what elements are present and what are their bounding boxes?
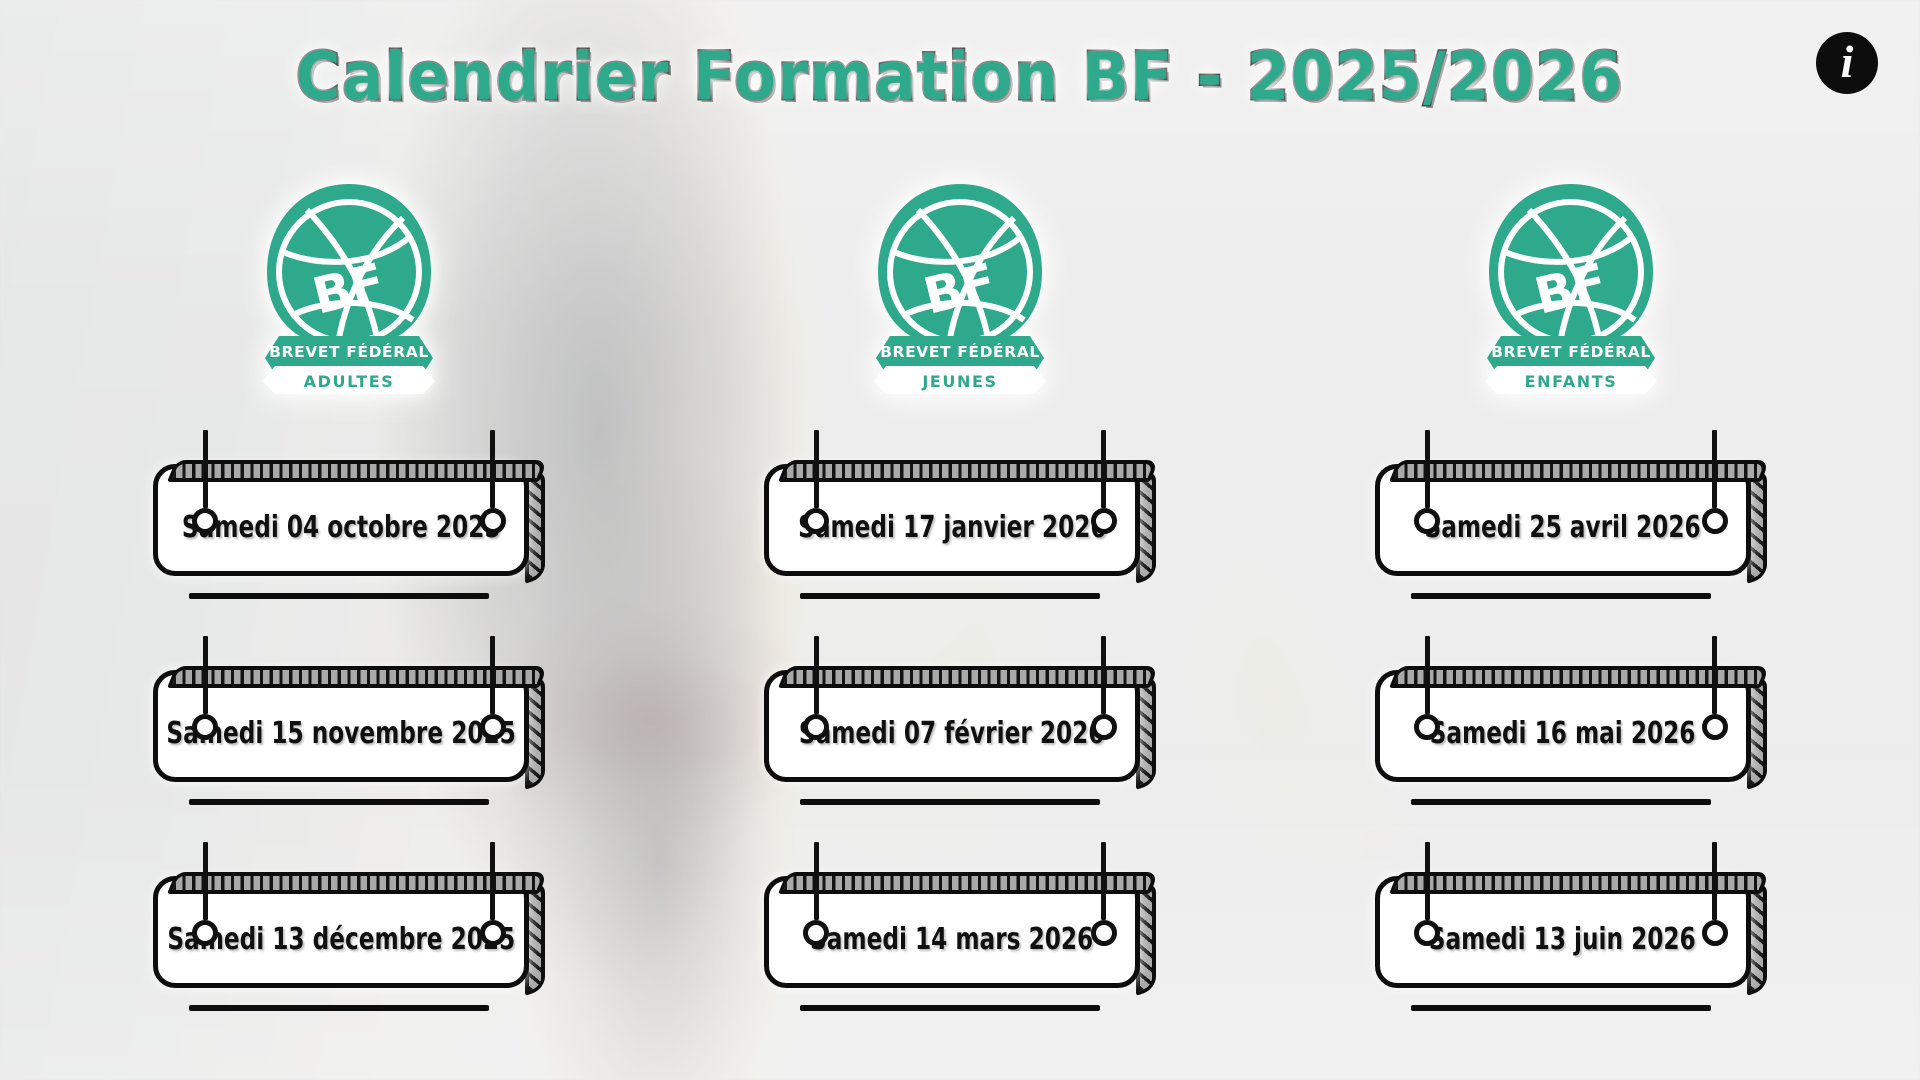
date-label: Samedi 13 décembre 2025: [167, 922, 515, 957]
page-title-wrapper: Calendrier Formation BF - 2025/2026: [0, 42, 1920, 111]
column-jeunes: BF BREVET FÉDÉRAL JEUNES Samedi 17 jan: [700, 180, 1220, 1004]
nail-head-right: [1702, 508, 1728, 534]
nail-left: [203, 636, 208, 714]
nail-right: [1712, 430, 1717, 508]
nail-right: [1101, 636, 1106, 714]
plate-bottom-rail: [1411, 1005, 1711, 1011]
date-label: Samedi 04 octobre 2025: [182, 510, 501, 545]
nail-head-left: [1414, 508, 1440, 534]
date-plate[interactable]: Samedi 16 mai 2026: [1375, 670, 1767, 798]
badge-banner-bottom: ENFANTS: [1524, 372, 1617, 391]
nail-head-left: [1414, 714, 1440, 740]
nail-right: [1101, 842, 1106, 920]
date-plate-stack-jeunes: Samedi 17 janvier 2026 Samedi 07 février…: [700, 430, 1220, 1004]
date-plate[interactable]: Samedi 15 novembre 2025: [153, 670, 545, 798]
page-title: Calendrier Formation BF - 2025/2026: [296, 42, 1624, 111]
badge-banner-top: BREVET FÉDÉRAL: [880, 342, 1040, 361]
nail-head-right: [1091, 714, 1117, 740]
nail-left: [1425, 430, 1430, 508]
date-label: Samedi 17 janvier 2026: [798, 510, 1106, 545]
nail-left: [203, 842, 208, 920]
nail-left: [814, 636, 819, 714]
bf-badge-adultes: BF BREVET FÉDÉRAL ADULTES: [251, 180, 447, 396]
nail-head-left: [803, 508, 829, 534]
date-label: Samedi 13 juin 2026: [1429, 922, 1696, 957]
plate-bottom-rail: [189, 799, 489, 805]
date-plate[interactable]: Samedi 13 juin 2026: [1375, 876, 1767, 1004]
nail-left: [1425, 842, 1430, 920]
plate-bottom-rail: [1411, 593, 1711, 599]
date-plate[interactable]: Samedi 13 décembre 2025: [153, 876, 545, 1004]
bf-badge-enfants: BF BREVET FÉDÉRAL ENFANTS: [1473, 180, 1669, 396]
nail-left: [814, 842, 819, 920]
nail-left: [1425, 636, 1430, 714]
date-label: Samedi 14 mars 2026: [810, 922, 1093, 957]
column-enfants: BF BREVET FÉDÉRAL ENFANTS Samedi 25 av: [1311, 180, 1831, 1004]
badge-banner-bottom: JEUNES: [921, 372, 997, 391]
date-label: Samedi 15 novembre 2025: [167, 716, 516, 751]
date-plate[interactable]: Samedi 04 octobre 2025: [153, 464, 545, 592]
columns-container: BF BREVET FÉDÉRAL ADULTES Samedi 04 oc: [0, 0, 1920, 1080]
badge-banner-bottom: ADULTES: [304, 372, 395, 391]
date-label: Samedi 16 mai 2026: [1430, 716, 1696, 751]
nail-head-right: [1702, 714, 1728, 740]
date-plate[interactable]: Samedi 17 janvier 2026: [764, 464, 1156, 592]
badge-banner-top: BREVET FÉDÉRAL: [269, 342, 429, 361]
bf-badge-jeunes: BF BREVET FÉDÉRAL JEUNES: [862, 180, 1058, 396]
date-plate[interactable]: Samedi 14 mars 2026: [764, 876, 1156, 1004]
info-glyph: i: [1841, 39, 1854, 85]
poster-canvas: i Calendrier Formation BF - 2025/2026 BF: [0, 0, 1920, 1080]
date-label: Samedi 25 avril 2026: [1425, 510, 1701, 545]
plate-bottom-rail: [189, 593, 489, 599]
nail-right: [1712, 636, 1717, 714]
nail-right: [490, 842, 495, 920]
nail-head-left: [803, 920, 829, 946]
nail-right: [1101, 430, 1106, 508]
date-label: Samedi 07 février 2026: [799, 716, 1105, 751]
nail-head-left: [803, 714, 829, 740]
plate-bottom-rail: [800, 593, 1100, 599]
date-plate[interactable]: Samedi 25 avril 2026: [1375, 464, 1767, 592]
column-adultes: BF BREVET FÉDÉRAL ADULTES Samedi 04 oc: [89, 180, 609, 1004]
nail-head-right: [1091, 920, 1117, 946]
badge-banner-top: BREVET FÉDÉRAL: [1491, 342, 1651, 361]
nail-right: [490, 430, 495, 508]
nail-head-left: [1414, 920, 1440, 946]
plate-bottom-rail: [800, 799, 1100, 805]
plate-bottom-rail: [1411, 799, 1711, 805]
nail-left: [814, 430, 819, 508]
nail-right: [1712, 842, 1717, 920]
nail-right: [490, 636, 495, 714]
nail-head-right: [1091, 508, 1117, 534]
date-plate[interactable]: Samedi 07 février 2026: [764, 670, 1156, 798]
plate-bottom-rail: [189, 1005, 489, 1011]
nail-left: [203, 430, 208, 508]
plate-bottom-rail: [800, 1005, 1100, 1011]
info-icon[interactable]: i: [1816, 32, 1878, 94]
nail-head-right: [1702, 920, 1728, 946]
date-plate-stack-adultes: Samedi 04 octobre 2025 Samedi 15 novembr…: [89, 430, 609, 1004]
date-plate-stack-enfants: Samedi 25 avril 2026 Samedi 16 mai 2026: [1311, 430, 1831, 1004]
